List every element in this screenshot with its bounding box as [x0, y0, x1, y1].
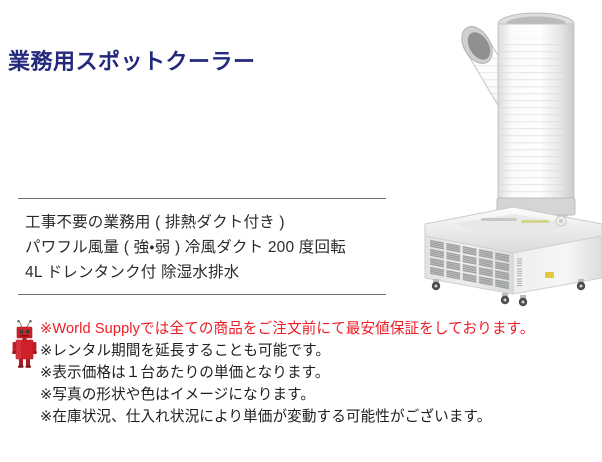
feature-list: 工事不要の業務用 ( 排熱ダクト付き ) パワフル風量 ( 強・弱 ) 冷風ダク… — [18, 210, 386, 285]
feature-item: パワフル風量 ( 強・弱 ) 冷風ダクト 200 度回転 — [18, 235, 386, 260]
note-item: ※レンタル期間を延長することも可能です。 — [40, 340, 602, 362]
feature-item: 4L ドレンタンク付 除湿水排水 — [18, 260, 386, 285]
note-item: ※World Supplyでは全ての商品をご注文前にて最安値保証をしております。 — [40, 318, 602, 340]
divider-top — [18, 198, 386, 199]
page-title: 業務用スポットクーラー — [8, 44, 256, 76]
note-item: ※写真の形状や色はイメージになります。 — [40, 384, 602, 406]
notes-list: ※World Supplyでは全ての商品をご注文前にて最安値保証をしております。… — [12, 318, 602, 428]
notes-area: ※World Supplyでは全ての商品をご注文前にて最安値保証をしております。… — [12, 318, 602, 428]
exhaust-duct — [497, 13, 575, 215]
feature-block: 工事不要の業務用 ( 排熱ダクト付き ) パワフル風量 ( 強・弱 ) 冷風ダク… — [18, 198, 386, 295]
red-robot-mascot-icon — [12, 320, 39, 368]
product-image-spot-cooler — [395, 2, 602, 310]
divider-bottom — [18, 294, 386, 295]
feature-item: 工事不要の業務用 ( 排熱ダクト付き ) — [18, 210, 386, 235]
note-item: ※在庫状況、仕入れ状況により単価が変動する可能性がございます。 — [40, 406, 602, 428]
note-item: ※表示価格は１台あたりの単価となります。 — [40, 362, 602, 384]
caution-label — [545, 272, 554, 278]
